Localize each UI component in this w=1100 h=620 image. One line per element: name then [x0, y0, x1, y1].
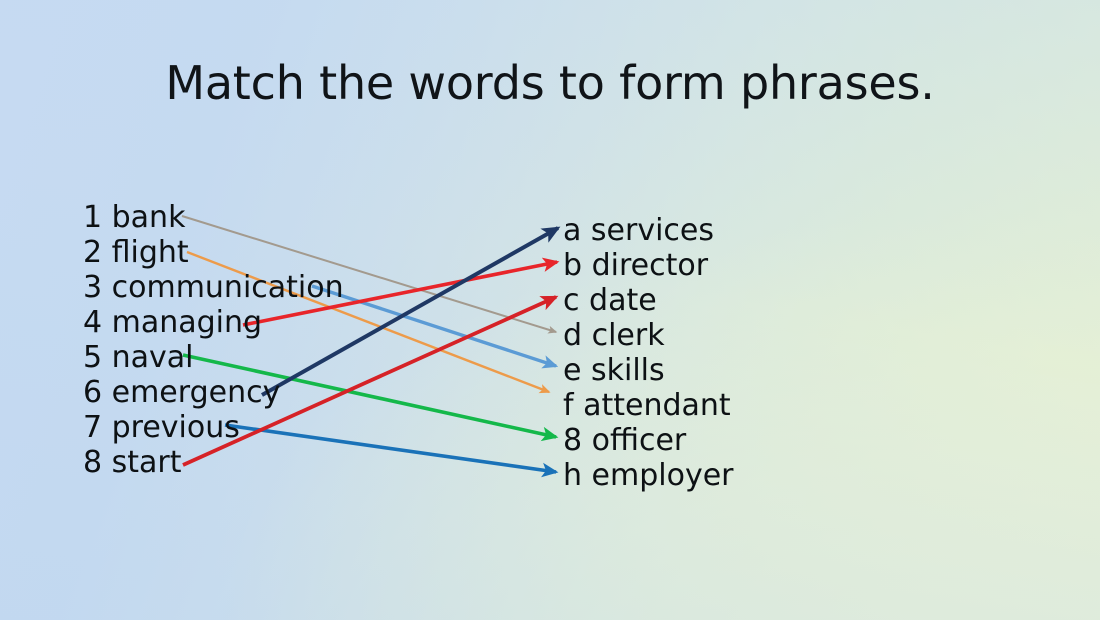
list-item[interactable]: 8 officer — [563, 423, 734, 458]
slide-canvas: Match the words to form phrases. 1 bank … — [0, 0, 1100, 620]
list-item[interactable]: 4 managing — [83, 305, 344, 340]
list-item[interactable]: 6 emergency — [83, 375, 344, 410]
list-item[interactable]: d clerk — [563, 318, 734, 353]
list-item[interactable]: e skills — [563, 353, 734, 388]
page-title: Match the words to form phrases. — [0, 58, 1100, 109]
list-item[interactable]: h employer — [563, 458, 734, 493]
list-item[interactable]: 5 naval — [83, 340, 344, 375]
list-item[interactable]: 3 communication — [83, 270, 344, 305]
list-item[interactable]: b director — [563, 248, 734, 283]
list-item[interactable]: 2 flight — [83, 235, 344, 270]
right-word-list: a services b director c date d clerk e s… — [563, 213, 734, 493]
list-item[interactable]: f attendant — [563, 388, 734, 423]
left-word-list: 1 bank 2 flight 3 communication 4 managi… — [83, 200, 344, 480]
list-item[interactable]: c date — [563, 283, 734, 318]
connector-communication-to-skills[interactable] — [312, 286, 556, 366]
list-item[interactable]: 7 previous — [83, 410, 344, 445]
list-item[interactable]: a services — [563, 213, 734, 248]
list-item[interactable]: 1 bank — [83, 200, 344, 235]
list-item[interactable]: 8 start — [83, 445, 344, 480]
